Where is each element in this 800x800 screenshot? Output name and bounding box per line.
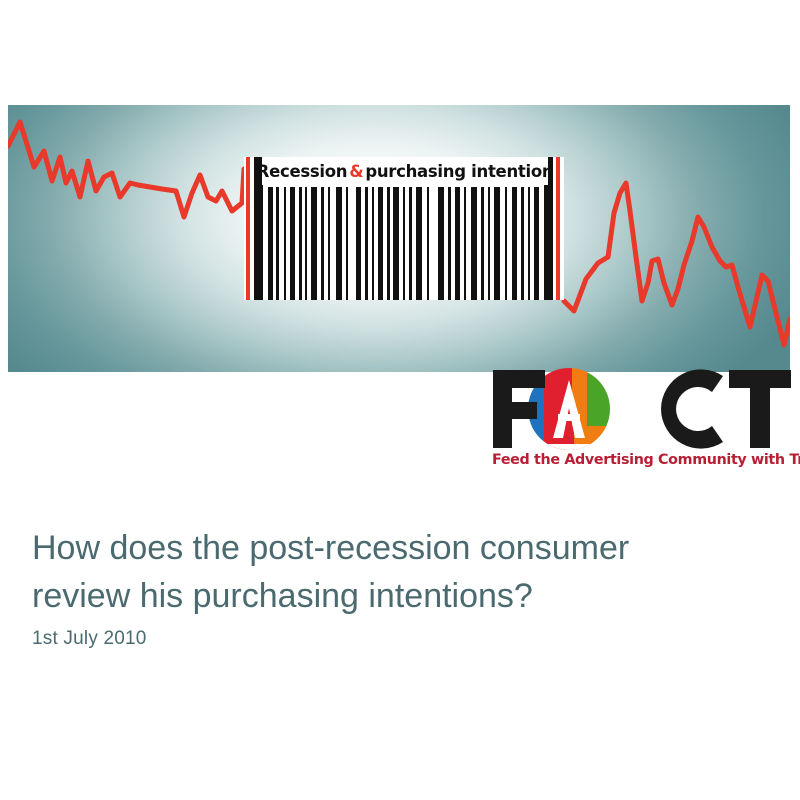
- barcode-caption-suffix: purchasing intention: [365, 162, 553, 181]
- logo-letter-c: [661, 369, 723, 448]
- barcode-caption-prefix: Recession: [257, 162, 348, 181]
- recession-banner-image: Recession & purchasing intention: [8, 105, 790, 372]
- fact-wordmark: [489, 368, 794, 450]
- presentation-title-slide: Recession & purchasing intention: [0, 0, 800, 800]
- fact-logo: Feed the Advertising Community with Tren…: [489, 368, 794, 480]
- trend-line-right: [564, 183, 790, 345]
- page-title-line-1: How does the post-recession consumer: [32, 524, 760, 572]
- logo-letter-t: [729, 370, 791, 448]
- trend-line-left: [8, 122, 244, 217]
- barcode-left-red-guard: [246, 157, 250, 300]
- presentation-date: 1st July 2010: [32, 628, 147, 650]
- barcode-graphic: Recession & purchasing intention: [244, 157, 564, 300]
- barcode-caption: Recession & purchasing intention: [262, 157, 548, 185]
- page-title: How does the post-recession consumer rev…: [32, 524, 760, 620]
- barcode-caption-ampersand: &: [347, 162, 365, 181]
- page-title-line-2: review his purchasing intentions?: [32, 572, 760, 620]
- fact-tagline: Feed the Advertising Community with Tren…: [492, 452, 792, 468]
- barcode-right-red-guard: [556, 157, 560, 300]
